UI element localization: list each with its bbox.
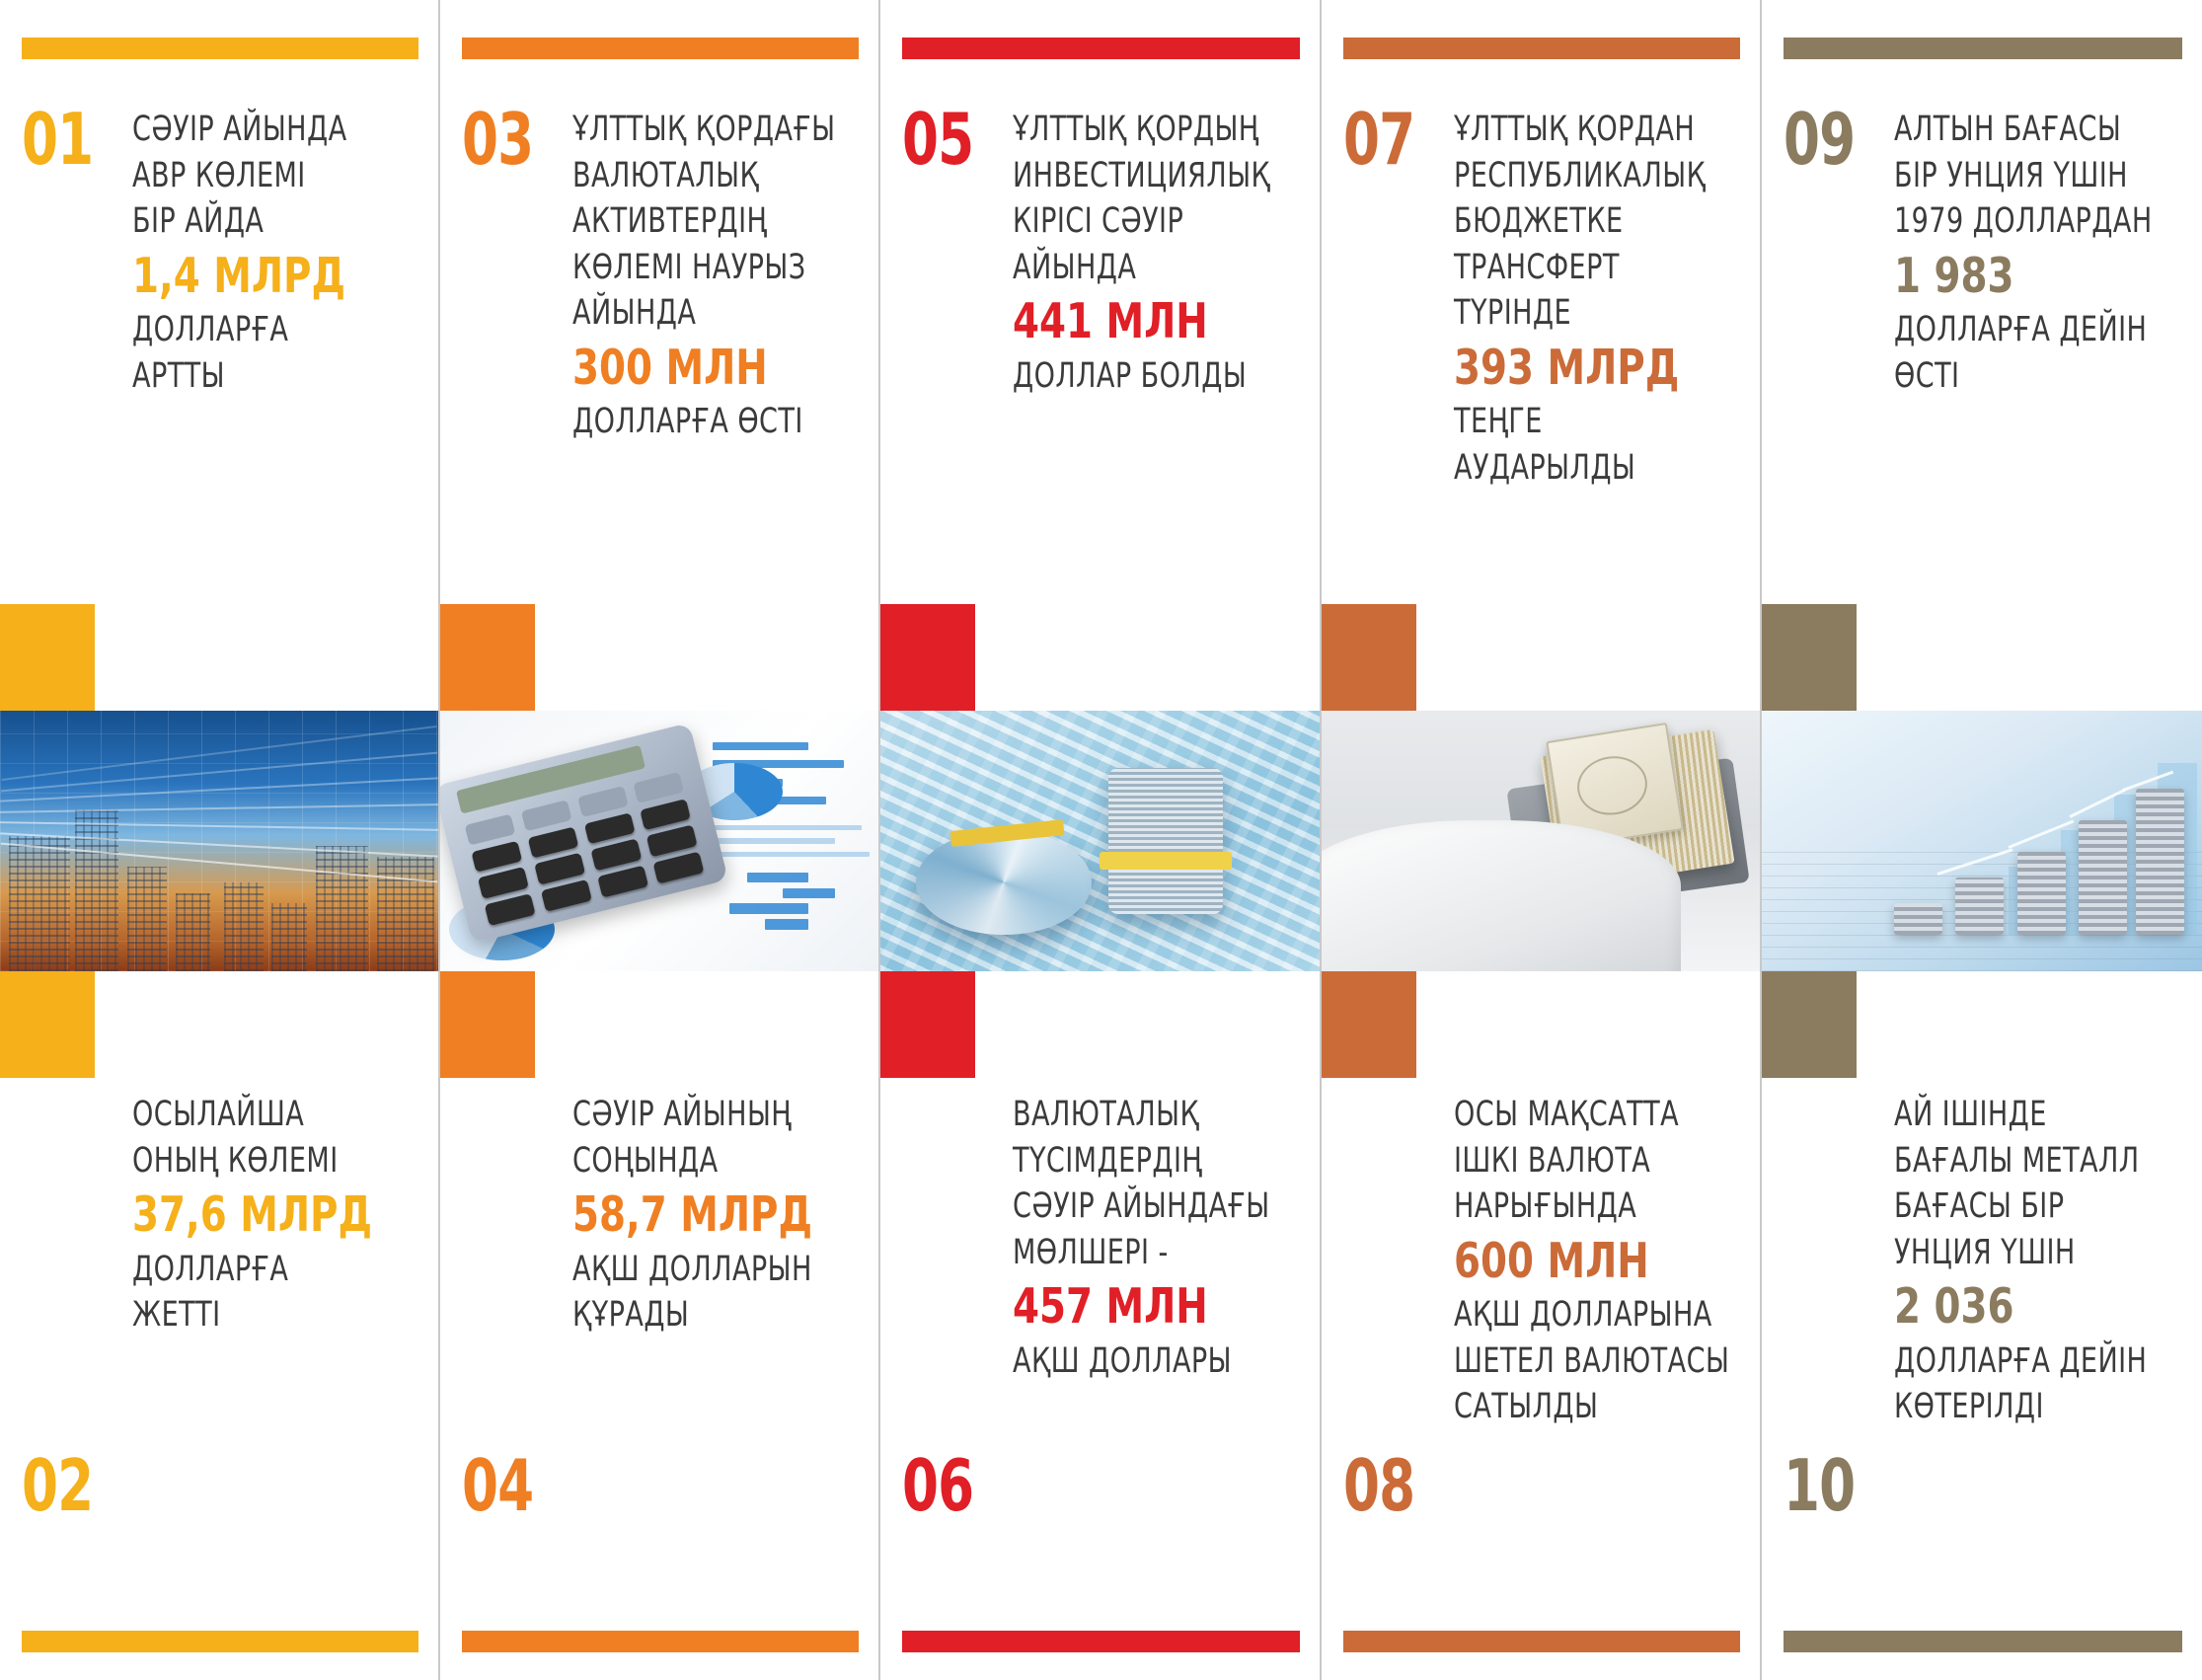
stat-text-line: АҚШ ДОЛЛАРЫН — [572, 1247, 820, 1293]
column-bottom-rule — [462, 1631, 859, 1652]
top-stat-lines: ҰЛТТЫҚ ҚОРДЫҢИНВЕСТИЦИЯЛЫҚКІРІСІ СӘУІРАЙ… — [1009, 107, 1313, 399]
stat-value: 300 МЛН — [572, 337, 842, 400]
stat-number: 03 — [462, 107, 550, 172]
stat-number: 02 — [22, 1453, 110, 1518]
stat-text-line: САТЫЛДЫ — [1454, 1384, 1729, 1430]
stat-number: 01 — [22, 107, 110, 172]
stat-text-line: ТҮСІМДЕРДІҢ — [1013, 1138, 1270, 1184]
stat-text-line: АЙ ІШІНДЕ — [1894, 1092, 2147, 1138]
stat-text-line: ДОЛЛАРҒА — [132, 307, 380, 353]
bottom-stat-lines: АЙ ІШІНДЕБАҒАЛЫ МЕТАЛЛБАҒАСЫ БІРУНЦИЯ ҮШ… — [1890, 1092, 2188, 1430]
column-photo — [880, 711, 1319, 971]
top-stat-lines: ҰЛТТЫҚ ҚОРДАНРЕСПУБЛИКАЛЫҚБЮДЖЕТКЕТРАНСФ… — [1450, 107, 1747, 492]
stat-number: 05 — [902, 107, 990, 172]
bottom-stat-block: 08ОСЫ МАҚСАТТАІШКІ ВАЛЮТАНАРЫҒЫНДА600 МЛ… — [1322, 1078, 1760, 1524]
stat-number: 10 — [1784, 1453, 1871, 1518]
stat-text-line: АКТИВТЕРДІҢ — [572, 198, 835, 245]
stat-text-line: 1979 ДОЛЛАРДАН — [1894, 198, 2153, 245]
column-bottom-rule — [902, 1631, 1299, 1652]
photo-band — [1322, 604, 1760, 1078]
stat-text-line: ВАЛЮТАЛЫҚ — [1013, 1092, 1270, 1138]
stat-text-line: ИНВЕСТИЦИЯЛЫҚ — [1013, 153, 1270, 199]
stat-text-line: АЙЫНДА — [572, 290, 835, 337]
stat-text-line: АВР КӨЛЕМІ — [132, 153, 380, 199]
stat-text-line: СӘУІР АЙЫНЫҢ — [572, 1092, 820, 1138]
stat-text-line: АЛТЫН БАҒАСЫ — [1894, 107, 2153, 153]
stat-number: 04 — [462, 1453, 550, 1518]
stat-text-line: ОСЫЛАЙША — [132, 1092, 380, 1138]
tenge-banknote-rolls-photo — [880, 711, 1319, 971]
column-bottom-rule — [1784, 1631, 2182, 1652]
accent-swatch-bottom — [1762, 971, 1857, 1078]
column-top-rule — [462, 38, 859, 59]
stat-text-line: ТРАНСФЕРТ — [1454, 245, 1706, 291]
stat-text-line: РЕСПУБЛИКАЛЫҚ — [1454, 153, 1706, 199]
stat-text-line: АРТТЫ — [132, 353, 380, 400]
accent-swatch-top — [1762, 604, 1857, 711]
stat-text-line: КӨТЕРІЛДІ — [1894, 1384, 2147, 1430]
money-counting-machine-photo — [1322, 711, 1760, 971]
top-stat-block: 05ҰЛТТЫҚ ҚОРДЫҢИНВЕСТИЦИЯЛЫҚКІРІСІ СӘУІР… — [880, 59, 1319, 604]
stat-text-line: ІШКІ ВАЛЮТА — [1454, 1138, 1729, 1184]
stat-text-line: СӘУІР АЙЫНДАҒЫ — [1013, 1184, 1270, 1230]
column-photo — [440, 711, 878, 971]
stat-column-1: 01СӘУІР АЙЫНДААВР КӨЛЕМІБІР АЙДА1,4 МЛРД… — [0, 0, 440, 1680]
stat-text-line: ҰЛТТЫҚ ҚОРДЫҢ — [1013, 107, 1270, 153]
photo-band — [880, 604, 1319, 1078]
stat-text-line: ДОЛЛАРҒА ДЕЙІН — [1894, 307, 2153, 353]
column-photo — [1322, 711, 1760, 971]
stat-number: 08 — [1343, 1453, 1431, 1518]
column-bottom-rule — [1343, 1631, 1740, 1652]
photo-band — [1762, 604, 2202, 1078]
stat-text-line: МӨЛШЕРІ - — [1013, 1230, 1270, 1276]
top-stat-lines: СӘУІР АЙЫНДААВР КӨЛЕМІБІР АЙДА1,4 МЛРДДО… — [128, 107, 420, 399]
infographic-board: 01СӘУІР АЙЫНДААВР КӨЛЕМІБІР АЙДА1,4 МЛРД… — [0, 0, 2202, 1680]
stat-column-5: 09АЛТЫН БАҒАСЫБІР УНЦИЯ ҮШІН1979 ДОЛЛАРД… — [1762, 0, 2202, 1680]
stat-number: 07 — [1343, 107, 1431, 172]
accent-swatch-top — [880, 604, 975, 711]
column-top-rule — [902, 38, 1299, 59]
accent-swatch-top — [1322, 604, 1416, 711]
stat-text-line: ОСЫ МАҚСАТТА — [1454, 1092, 1729, 1138]
stat-column-4: 07ҰЛТТЫҚ ҚОРДАНРЕСПУБЛИКАЛЫҚБЮДЖЕТКЕТРАН… — [1322, 0, 1762, 1680]
calculator-financial-charts-photo — [440, 711, 878, 971]
column-top-rule — [1343, 38, 1740, 59]
stat-value: 1 983 — [1894, 245, 2159, 308]
bottom-stat-block: 04СӘУІР АЙЫНЫҢСОҢЫНДА58,7 МЛРДАҚШ ДОЛЛАР… — [440, 1078, 878, 1524]
stat-text-line: ДОЛЛАР БОЛДЫ — [1013, 353, 1270, 400]
top-stat-block: 07ҰЛТТЫҚ ҚОРДАНРЕСПУБЛИКАЛЫҚБЮДЖЕТКЕТРАН… — [1322, 59, 1760, 604]
stat-text-line: БАҒАСЫ БІР — [1894, 1184, 2147, 1230]
stat-text-line: ТЕҢГЕ — [1454, 399, 1706, 445]
accent-swatch-bottom — [1322, 971, 1416, 1078]
top-stat-block: 09АЛТЫН БАҒАСЫБІР УНЦИЯ ҮШІН1979 ДОЛЛАРД… — [1762, 59, 2202, 604]
column-top-rule — [1784, 38, 2182, 59]
stat-text-line: БІР АЙДА — [132, 198, 380, 245]
accent-swatch-bottom — [880, 971, 975, 1078]
coin-stacks-growth-chart-photo — [1762, 711, 2202, 971]
column-top-rule — [22, 38, 418, 59]
stat-text-line: ҰЛТТЫҚ ҚОРДАН — [1454, 107, 1706, 153]
stat-value: 600 МЛН — [1454, 1230, 1736, 1293]
photo-band — [0, 604, 438, 1078]
stat-text-line: ДОЛЛАРҒА — [132, 1247, 380, 1293]
top-stat-lines: АЛТЫН БАҒАСЫБІР УНЦИЯ ҮШІН1979 ДОЛЛАРДАН… — [1890, 107, 2194, 399]
stat-text-line: УНЦИЯ ҮШІН — [1894, 1230, 2147, 1276]
stat-text-line: ЖЕТТІ — [132, 1292, 380, 1338]
photo-band — [440, 604, 878, 1078]
stat-text-line: БЮДЖЕТКЕ — [1454, 198, 1706, 245]
stat-text-line: КІРІСІ СӘУІР — [1013, 198, 1270, 245]
stat-number: 09 — [1784, 107, 1871, 172]
stat-text-line: ҰЛТТЫҚ ҚОРДАҒЫ — [572, 107, 835, 153]
stat-number: 06 — [902, 1453, 990, 1518]
stat-text-line: ТҮРІНДЕ — [1454, 290, 1706, 337]
accent-swatch-top — [0, 604, 95, 711]
stat-value: 393 МЛРД — [1454, 337, 1711, 400]
stat-value: 2 036 — [1894, 1275, 2153, 1338]
stat-text-line: БІР УНЦИЯ ҮШІН — [1894, 153, 2153, 199]
stat-text-line: КӨЛЕМІ НАУРЫЗ — [572, 245, 835, 291]
stat-text-line: БАҒАЛЫ МЕТАЛЛ — [1894, 1138, 2147, 1184]
bottom-stat-block: 10АЙ ІШІНДЕБАҒАЛЫ МЕТАЛЛБАҒАСЫ БІРУНЦИЯ … — [1762, 1078, 2202, 1524]
column-photo — [1762, 711, 2202, 971]
accent-swatch-bottom — [440, 971, 535, 1078]
column-bottom-rule — [22, 1631, 418, 1652]
accent-swatch-bottom — [0, 971, 95, 1078]
stat-text-line: ӨСТІ — [1894, 353, 2153, 400]
stat-text-line: ДОЛЛАРҒА ДЕЙІН — [1894, 1338, 2147, 1385]
stat-text-line: ҚҰРАДЫ — [572, 1292, 820, 1338]
stat-value: 37,6 МЛРД — [132, 1184, 386, 1247]
bottom-stat-block: 06ВАЛЮТАЛЫҚТҮСІМДЕРДІҢСӘУІР АЙЫНДАҒЫМӨЛШ… — [880, 1078, 1319, 1524]
top-stat-block: 01СӘУІР АЙЫНДААВР КӨЛЕМІБІР АЙДА1,4 МЛРД… — [0, 59, 438, 604]
stat-text-line: ДОЛЛАРҒА ӨСТІ — [572, 399, 835, 445]
stat-text-line: ОНЫҢ КӨЛЕМІ — [132, 1138, 380, 1184]
stat-text-line: СОҢЫНДА — [572, 1138, 820, 1184]
stat-text-line: АҚШ ДОЛЛАРЫ — [1013, 1338, 1270, 1385]
stat-column-2: 03ҰЛТТЫҚ ҚОРДАҒЫВАЛЮТАЛЫҚАКТИВТЕРДІҢКӨЛЕ… — [440, 0, 880, 1680]
stat-text-line: ВАЛЮТАЛЫҚ — [572, 153, 835, 199]
stat-text-line: АЙЫНДА — [1013, 245, 1270, 291]
bottom-stat-lines: СӘУІР АЙЫНЫҢСОҢЫНДА58,7 МЛРДАҚШ ДОЛЛАРЫН… — [569, 1092, 861, 1338]
stat-text-line: АҚШ ДОЛЛАРЫНА — [1454, 1292, 1729, 1338]
stat-text-line: АУДАРЫЛДЫ — [1454, 445, 1706, 492]
city-skyline-stock-chart-photo — [0, 711, 438, 971]
stat-value: 441 МЛН — [1013, 290, 1276, 353]
top-stat-block: 03ҰЛТТЫҚ ҚОРДАҒЫВАЛЮТАЛЫҚАКТИВТЕРДІҢКӨЛЕ… — [440, 59, 878, 604]
bottom-stat-lines: ВАЛЮТАЛЫҚТҮСІМДЕРДІҢСӘУІР АЙЫНДАҒЫМӨЛШЕР… — [1009, 1092, 1312, 1384]
stat-value: 1,4 МЛРД — [132, 245, 386, 308]
stat-text-line: СӘУІР АЙЫНДА — [132, 107, 380, 153]
stat-text-line: ШЕТЕЛ ВАЛЮТАСЫ — [1454, 1338, 1729, 1385]
bottom-stat-block: 02ОСЫЛАЙШАОНЫҢ КӨЛЕМІ37,6 МЛРДДОЛЛАРҒАЖЕ… — [0, 1078, 438, 1524]
bottom-stat-lines: ОСЫЛАЙШАОНЫҢ КӨЛЕМІ37,6 МЛРДДОЛЛАРҒАЖЕТТ… — [128, 1092, 420, 1338]
column-photo — [0, 711, 438, 971]
stat-text-line: НАРЫҒЫНДА — [1454, 1184, 1729, 1230]
stat-value: 457 МЛН — [1013, 1275, 1276, 1338]
accent-swatch-top — [440, 604, 535, 711]
stat-column-3: 05ҰЛТТЫҚ ҚОРДЫҢИНВЕСТИЦИЯЛЫҚКІРІСІ СӘУІР… — [880, 0, 1321, 1680]
stat-value: 58,7 МЛРД — [572, 1184, 826, 1247]
top-stat-lines: ҰЛТТЫҚ ҚОРДАҒЫВАЛЮТАЛЫҚАКТИВТЕРДІҢКӨЛЕМІ… — [569, 107, 878, 445]
bottom-stat-lines: ОСЫ МАҚСАТТАІШКІ ВАЛЮТАНАРЫҒЫНДА600 МЛНА… — [1450, 1092, 1775, 1430]
